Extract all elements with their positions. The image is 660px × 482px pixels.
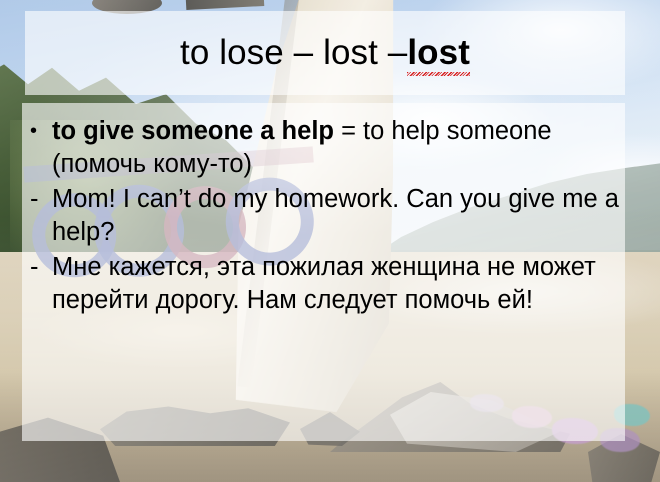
list-item: - Мне кажется, эта пожилая женщина не мо… <box>30 251 619 317</box>
bullet-dot-icon: • <box>30 115 52 148</box>
list-item-text: Мне кажется, эта пожилая женщина не може… <box>52 251 619 317</box>
list-item: • to give someone a help = to help someo… <box>30 115 619 181</box>
title-plain-text: to lose – lost – <box>180 33 407 73</box>
list-item-bold-phrase: to give someone a help <box>52 117 334 145</box>
bullet-dash-icon: - <box>30 183 52 216</box>
title-bold-text: lost <box>407 33 470 73</box>
list-item: - Mom! I can’t do my homework. Can you g… <box>30 183 619 249</box>
list-item-text: Mom! I can’t do my homework. Can you giv… <box>52 183 619 249</box>
list-item-text: to give someone a help = to help someone… <box>52 115 619 181</box>
bullet-dash-icon: - <box>30 251 52 284</box>
slide-title: to lose – lost – lost <box>25 11 625 95</box>
bullet-list: • to give someone a help = to help someo… <box>22 103 625 319</box>
presentation-slide: to lose – lost – lost • to give someone … <box>0 0 660 482</box>
